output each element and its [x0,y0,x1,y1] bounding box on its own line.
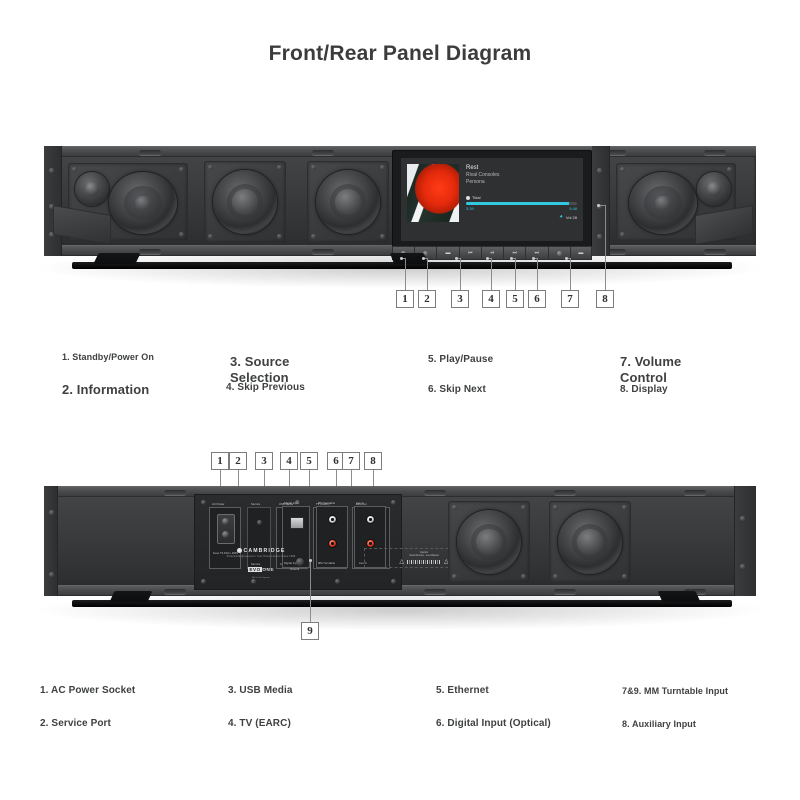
mm-turntable-right-jack[interactable] [328,539,337,548]
rear-callout-1: 1 [211,452,229,470]
aux-input-caption-top: Aux In [356,502,364,505]
front-callout-tip-2 [422,257,425,260]
rear-callout-8: 8 [364,452,382,470]
front-callout-tip-8 [597,204,600,207]
front-panel-legend: 1. Standby/Power On 2. Information 3. So… [0,330,800,420]
rear-legend-item-4: 4. TV (EARC) [228,718,291,729]
front-callout-1: 1 [396,290,414,308]
mm-turntable-caption-top: MM Turntable [318,502,335,505]
front-callout-leader-3 [460,258,461,290]
optical-digital-input[interactable] [290,517,304,529]
rear-callout-5: 5 [300,452,318,470]
front-callout-8: 8 [596,290,614,308]
rear-callout-3: 3 [255,452,273,470]
front-callout-tip-1 [400,257,403,260]
front-callout-tip-4 [486,257,489,260]
rear-callout-9: 9 [301,622,319,640]
diagram-canvas: Front/Rear Panel Diagram [0,0,800,800]
front-callout-6: 6 [528,290,546,308]
rear-callout-nine: 9 [0,560,800,650]
rear-legend-item-6: 6. Digital Input (Optical) [436,718,551,729]
digital-input-caption-top: Digital Input [284,502,299,505]
front-callout-leader-5 [515,258,516,290]
front-legend-item-2: 2. Information [62,382,149,397]
front-callouts: 12345678 [0,0,800,320]
front-callout-4: 4 [482,290,500,308]
front-callout-tip-7 [565,257,568,260]
front-callout-leader-2 [427,258,428,290]
mm-turntable-left-jack[interactable] [328,515,337,524]
front-legend-item-8: 8. Display [620,384,668,395]
cambridge-logo-icon [237,548,242,553]
rear-callout-4: 4 [280,452,298,470]
front-callout-tip-3 [455,257,458,260]
rear-legend-item-5: 5. Ethernet [436,685,489,696]
front-legend-item-7: 7. Volume Control [620,354,681,387]
front-legend-item-1: 1. Standby/Power On [62,352,154,362]
rear-legend-item-7: 7&9. MM Turntable Input [622,686,728,696]
brand-name: CAMBRIDGE [206,548,316,554]
brand-tagline: Personal Engineered in Your Home London … [206,555,316,558]
rear-legend-item-2: 2. Service Port [40,718,111,729]
rear-callout-2: 2 [229,452,247,470]
front-legend-item-4: 4. Skip Previous [226,382,305,393]
rear-legend-item-3: 3. USB Media [228,685,293,696]
ac-power-caption: AC Power [212,503,224,506]
front-callout-leader-4 [491,258,492,290]
rear-legend-item-8: 8. Auxiliary Input [622,719,696,729]
front-callout-leader-7 [570,258,571,290]
rear-callout-tip-9 [309,559,312,562]
front-callout-leader-1 [405,258,406,290]
front-callout-leader-8 [605,205,606,290]
mm-turntable-block: MM Turntable MM Turntable [316,506,348,568]
front-callout-5: 5 [506,290,524,308]
front-callout-tip-6 [532,257,535,260]
aux-left-jack[interactable] [366,515,375,524]
aux-right-jack[interactable] [366,539,375,548]
rear-legend-item-1: 1. AC Power Socket [40,685,135,696]
front-legend-item-6: 6. Skip Next [428,384,486,395]
front-callout-3: 3 [451,290,469,308]
front-legend-item-5: 5. Play/Pause [428,354,493,365]
front-callout-2: 2 [418,290,436,308]
front-callout-7: 7 [561,290,579,308]
rear-panel-legend: 1. AC Power Socket 2. Service Port 3. US… [0,670,800,760]
front-callout-leader-6 [537,258,538,290]
rear-callout-leader-9 [310,560,311,622]
rear-callout-7: 7 [342,452,360,470]
ac-power-socket[interactable] [217,514,235,544]
front-callout-tip-5 [510,257,513,260]
